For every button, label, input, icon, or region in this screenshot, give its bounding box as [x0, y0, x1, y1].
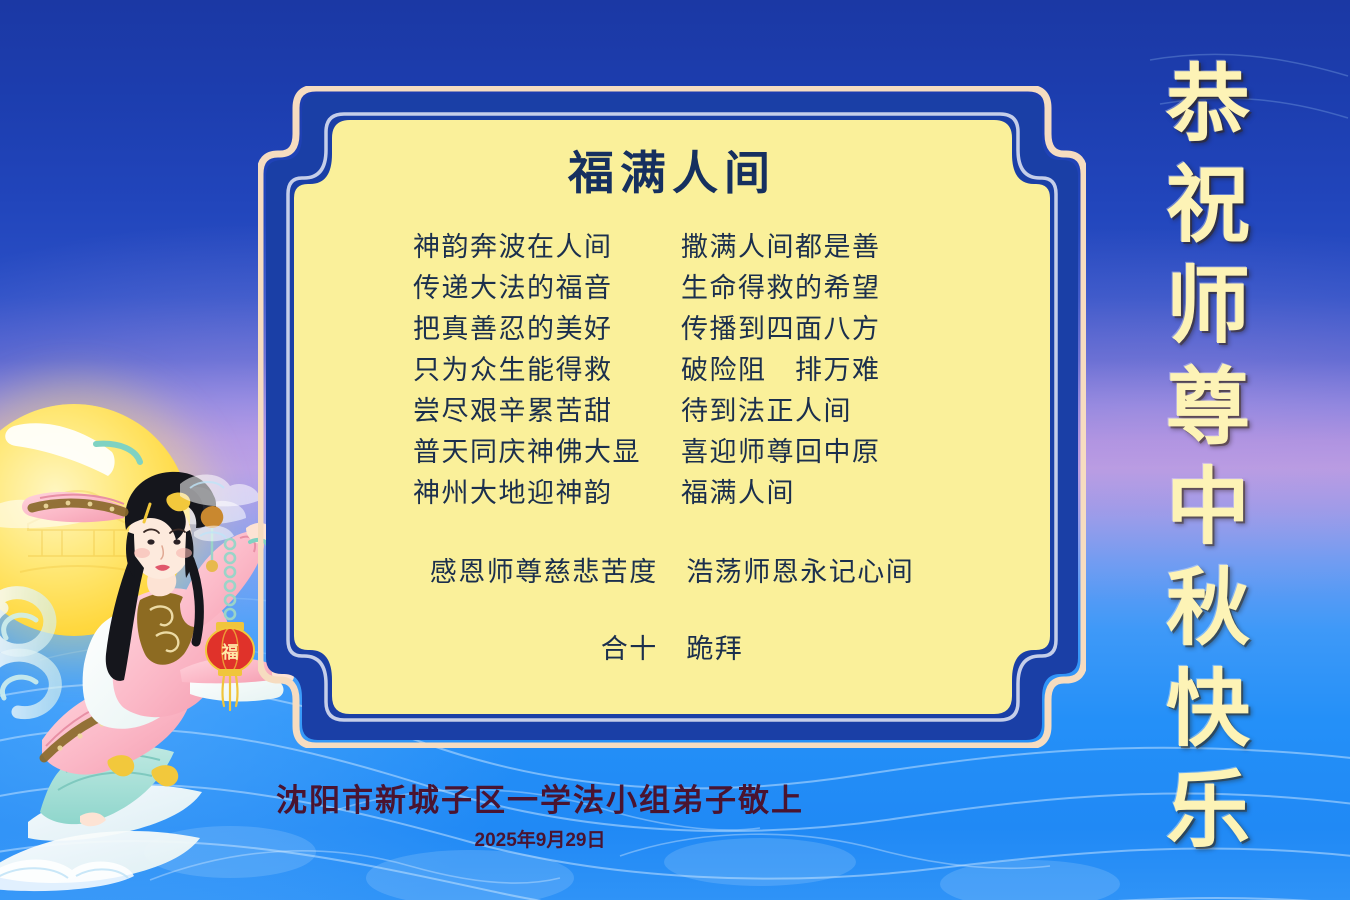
greeting-char: 快	[1166, 667, 1250, 751]
poem-line-left: 只为众生能得救	[413, 348, 681, 387]
poem-line-right: 生命得救的希望	[681, 266, 931, 305]
poem-line-left: 神韵奔波在人间	[413, 225, 681, 264]
greeting-char: 师	[1166, 264, 1250, 348]
poem-line: 传递大法的福音 生命得救的希望	[413, 266, 931, 307]
poem-line-left: 尝尽艰辛累苦甜	[413, 389, 681, 428]
greeting-char: 祝	[1166, 163, 1250, 247]
poem-line-left: 神州大地迎神韵	[413, 471, 681, 510]
poem-line-left: 传递大法的福音	[413, 266, 681, 305]
poem-closing-line: 感恩师尊慈悲苦度 浩荡师恩永记心间	[430, 550, 915, 589]
poem-line: 只为众生能得救 破险阻 排万难	[413, 348, 931, 389]
poem-line: 尝尽艰辛累苦甜 待到法正人间	[413, 389, 931, 430]
card-text-content: 福满人间 神韵奔波在人间 撒满人间都是善 传递大法的福音 生命得救的希望 把真善…	[300, 124, 1044, 710]
signature-date: 2025年9月29日	[0, 825, 1080, 852]
change-moon-goddess-illustration: 福	[0, 392, 294, 900]
greeting-char: 尊	[1166, 365, 1250, 449]
lantern-fu-character: 福	[221, 642, 239, 662]
greeting-card-image: 福	[0, 0, 1350, 900]
signature-sender: 沈阳市新城子区一学法小组弟子敬上	[0, 775, 1080, 820]
poem-line: 神州大地迎神韵 福满人间	[413, 471, 931, 512]
greeting-char: 乐	[1166, 768, 1250, 852]
poem-line-right: 撒满人间都是善	[681, 225, 931, 264]
poem-line-left: 把真善忍的美好	[413, 307, 681, 346]
poem-line-left: 普天同庆神佛大显	[413, 430, 681, 469]
poem-body: 神韵奔波在人间 撒满人间都是善 传递大法的福音 生命得救的希望 把真善忍的美好 …	[413, 225, 931, 512]
poem-salute-line: 合十 跪拜	[601, 627, 744, 666]
poem-line: 普天同庆神佛大显 喜迎师尊回中原	[413, 430, 931, 471]
poem-line: 把真善忍的美好 传播到四面八方	[413, 307, 931, 348]
poem-line-right: 传播到四面八方	[681, 307, 931, 346]
poem-line-right: 待到法正人间	[681, 389, 931, 428]
greeting-char: 秋	[1166, 566, 1250, 650]
poem-line-right: 喜迎师尊回中原	[681, 430, 931, 469]
vertical-greeting: 恭 祝 师 尊 中 秋 快 乐	[1108, 62, 1308, 852]
poem-line-right: 福满人间	[681, 471, 931, 510]
greeting-char: 恭	[1166, 62, 1250, 146]
poem-line: 神韵奔波在人间 撒满人间都是善	[413, 225, 931, 266]
greeting-char: 中	[1166, 465, 1250, 549]
poem-line-right: 破险阻 排万难	[681, 348, 931, 387]
poem-title: 福满人间	[568, 146, 776, 201]
